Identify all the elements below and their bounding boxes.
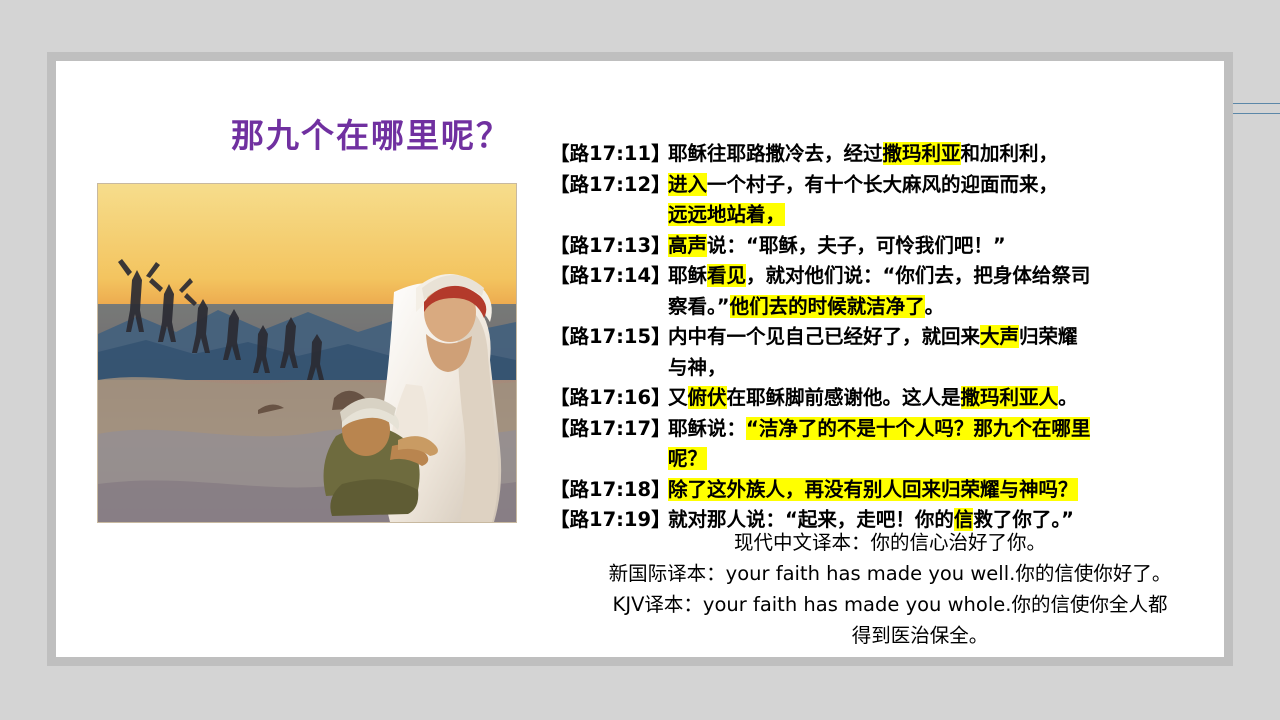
- verse-line: 【路17:16】又俯伏在耶稣脚前感谢他。这人是撒玛利亚人。: [550, 383, 1210, 414]
- verse-highlight: 看见: [707, 264, 746, 287]
- translation-line: 得到医治保全。: [550, 620, 1230, 651]
- verse-continuation: 远远地站着，: [550, 200, 1210, 231]
- verse-reference: 【路17:18】: [550, 475, 668, 506]
- verse-text: 一个村子，有十个长大麻风的迎面而来，: [707, 173, 1058, 196]
- translation-line: KJV译本：your faith has made you whole.你的信使…: [550, 589, 1230, 620]
- verse-body: 内中有一个见自己已经好了，就回来大声归荣耀: [668, 322, 1210, 353]
- verse-reference: 【路17:15】: [550, 322, 668, 353]
- verse-highlight: 高声: [668, 234, 707, 257]
- verse-text: 耶稣: [668, 264, 707, 287]
- verse-reference: 【路17:12】: [550, 170, 668, 201]
- verse-continuation: 与神，: [550, 353, 1210, 384]
- translations-block: 现代中文译本：你的信心治好了你。新国际译本：your faith has mad…: [550, 527, 1230, 651]
- page-title: 那九个在哪里呢？: [151, 109, 591, 157]
- scripture-block: 【路17:11】耶稣往耶路撒冷去，经过撒玛利亚和加利利，【路17:12】进入一个…: [550, 139, 1210, 536]
- verse-line: 【路17:15】内中有一个见自己已经好了，就回来大声归荣耀: [550, 322, 1210, 353]
- verse-text: 耶稣往耶路撒冷去，经过: [668, 142, 883, 165]
- verse-highlight: 俯伏: [688, 386, 727, 409]
- verse-highlight: “洁净了的不是十个人吗？那九个在哪里: [746, 417, 1090, 440]
- verse-body: 耶稣往耶路撒冷去，经过撒玛利亚和加利利，: [668, 139, 1210, 170]
- verse-line: 【路17:12】进入一个村子，有十个长大麻风的迎面而来，: [550, 170, 1210, 201]
- slide-frame: 那九个在哪里呢？: [47, 52, 1233, 666]
- verse-line: 【路17:17】耶稣说：“洁净了的不是十个人吗？那九个在哪里: [550, 414, 1210, 445]
- verse-highlight: 除了这外族人，再没有别人回来归荣耀与神吗？: [668, 478, 1078, 501]
- verse-text: 。: [925, 295, 945, 318]
- verse-text: 在耶稣脚前感谢他。这人是: [727, 386, 961, 409]
- slide-canvas: 那九个在哪里呢？: [56, 61, 1224, 657]
- verse-line: 【路17:14】耶稣看见，就对他们说：“你们去，把身体给祭司: [550, 261, 1210, 292]
- verse-text: 内中有一个见自己已经好了，就回来: [668, 325, 980, 348]
- verse-reference: 【路17:13】: [550, 231, 668, 262]
- verse-body: 高声说：“耶稣，夫子，可怜我们吧！”: [668, 231, 1210, 262]
- verse-body: 耶稣说：“洁净了的不是十个人吗？那九个在哪里: [668, 414, 1210, 445]
- verse-text: 归荣耀: [1019, 325, 1078, 348]
- verse-continuation: 察看。”他们去的时候就洁净了。: [550, 292, 1210, 323]
- illustration-svg: [98, 184, 516, 522]
- verse-line: 【路17:13】高声说：“耶稣，夫子，可怜我们吧！”: [550, 231, 1210, 262]
- verse-highlight: 他们去的时候就洁净了: [730, 295, 925, 318]
- verse-reference: 【路17:11】: [550, 139, 668, 170]
- verse-continuation: 呢？: [550, 444, 1210, 475]
- verse-body: 除了这外族人，再没有别人回来归荣耀与神吗？: [668, 475, 1210, 506]
- verse-text: 与神，: [668, 356, 727, 379]
- verse-line: 【路17:11】耶稣往耶路撒冷去，经过撒玛利亚和加利利，: [550, 139, 1210, 170]
- verse-highlight: 进入: [668, 173, 707, 196]
- scene-illustration: [97, 183, 517, 523]
- verse-highlight: 远远地站着，: [668, 203, 785, 226]
- verse-highlight: 撒玛利亚人: [961, 386, 1059, 409]
- verse-reference: 【路17:14】: [550, 261, 668, 292]
- translation-line: 新国际译本：your faith has made you well.你的信使你…: [550, 558, 1230, 589]
- verse-body: 耶稣看见，就对他们说：“你们去，把身体给祭司: [668, 261, 1210, 292]
- verse-body: 又俯伏在耶稣脚前感谢他。这人是撒玛利亚人。: [668, 383, 1210, 414]
- verse-body: 进入一个村子，有十个长大麻风的迎面而来，: [668, 170, 1210, 201]
- verse-highlight: 撒玛利亚: [883, 142, 961, 165]
- verse-text: 耶稣说：: [668, 417, 746, 440]
- verse-highlight: 呢？: [668, 447, 707, 470]
- verse-reference: 【路17:17】: [550, 414, 668, 445]
- verse-text: ，就对他们说：“你们去，把身体给祭司: [746, 264, 1090, 287]
- verse-reference: 【路17:16】: [550, 383, 668, 414]
- verse-line: 【路17:18】除了这外族人，再没有别人回来归荣耀与神吗？: [550, 475, 1210, 506]
- verse-text: 又: [668, 386, 688, 409]
- verse-highlight: 大声: [980, 325, 1019, 348]
- verse-text: 和加利利，: [961, 142, 1059, 165]
- translation-line: 现代中文译本：你的信心治好了你。: [550, 527, 1230, 558]
- verse-text: 。: [1058, 386, 1078, 409]
- verse-text: 察看。”: [668, 295, 730, 318]
- verse-text: 说：“耶稣，夫子，可怜我们吧！”: [707, 234, 1006, 257]
